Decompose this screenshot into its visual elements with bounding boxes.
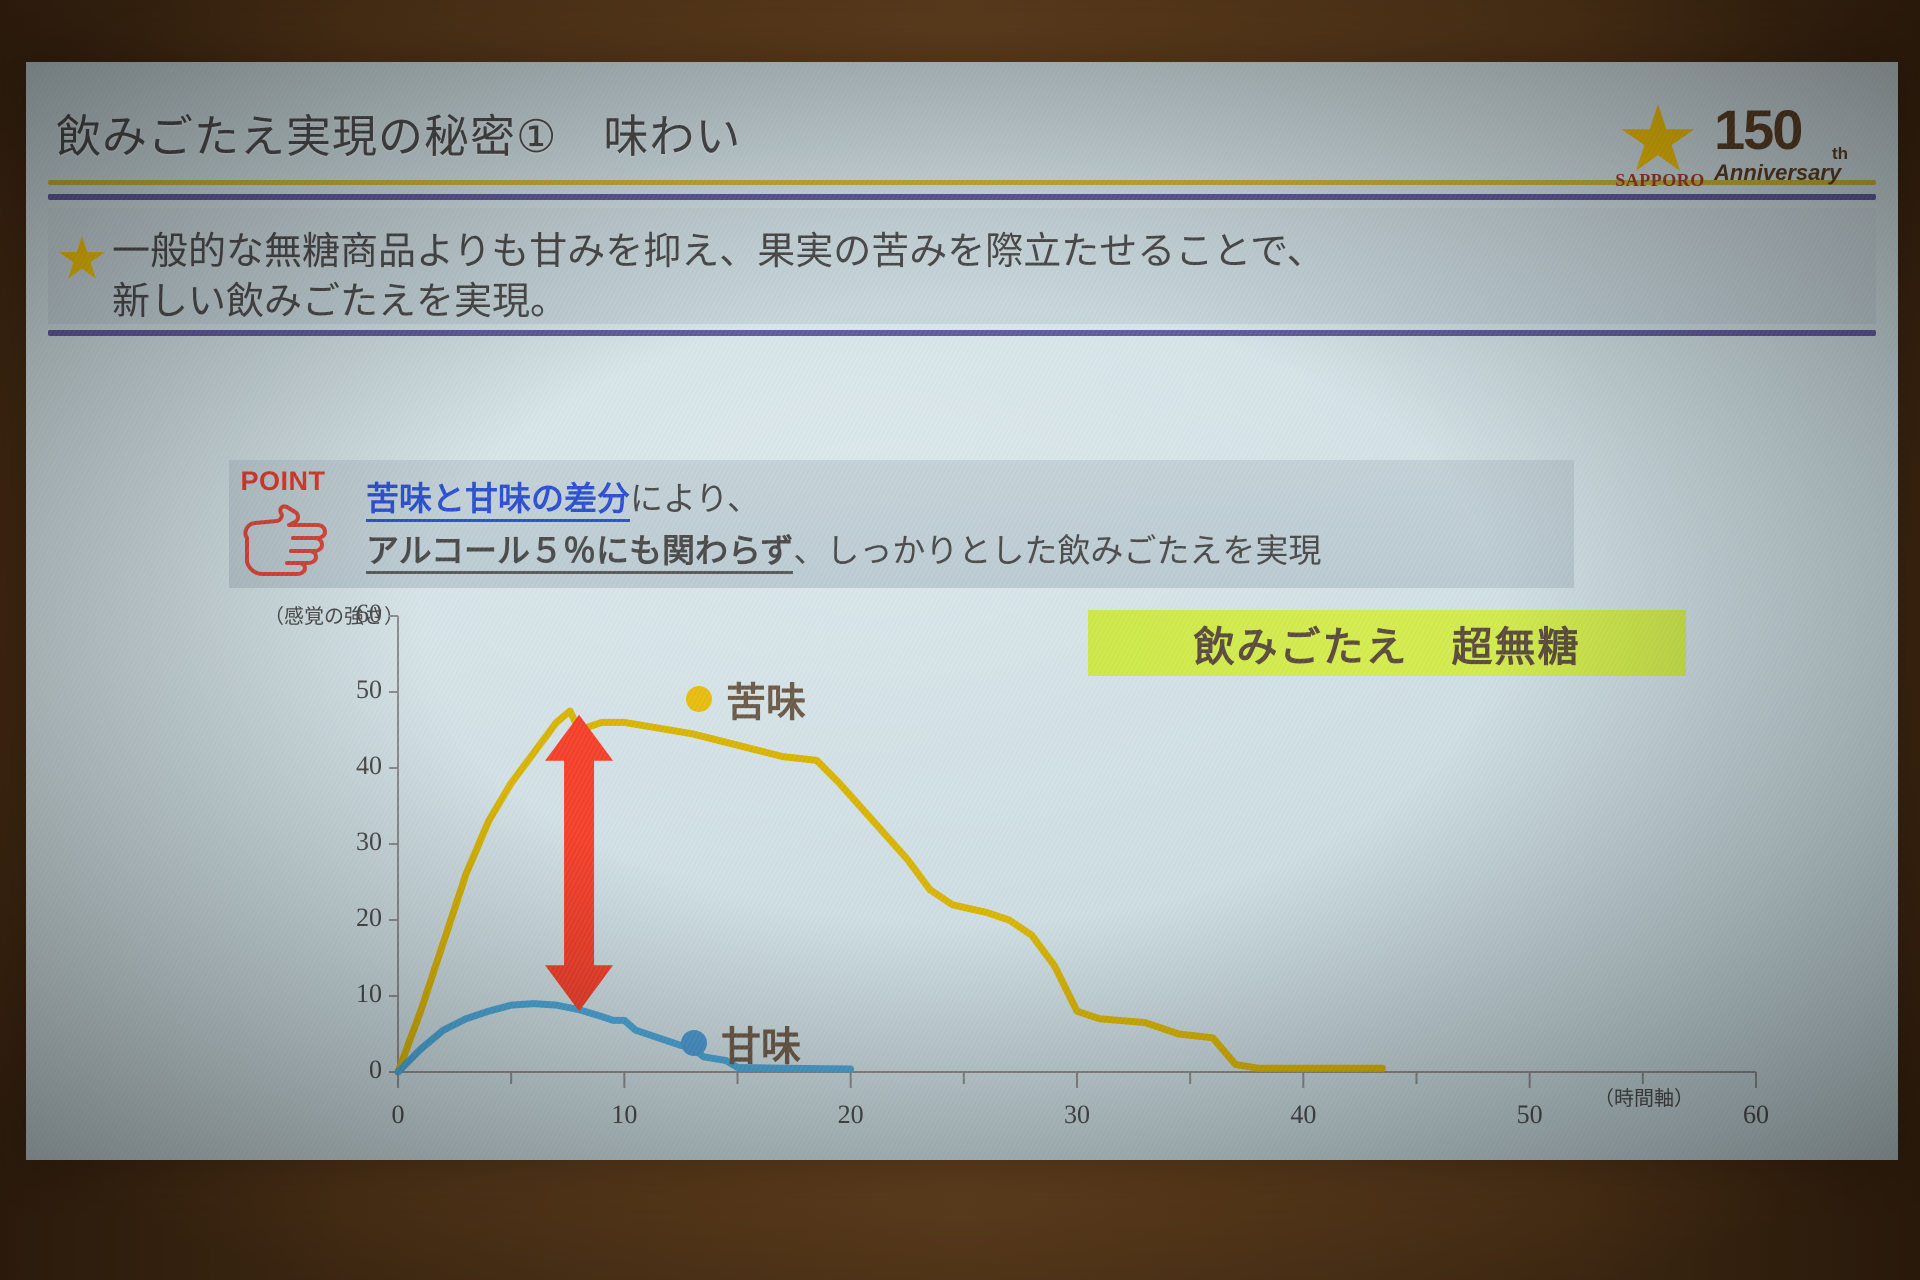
logo-number: 150	[1714, 102, 1801, 158]
page-title: 飲みごたえ実現の秘密① 味わい	[56, 100, 741, 165]
x-tick-label: 0	[368, 1100, 428, 1130]
logo-brand: SAPPORO	[1614, 170, 1706, 191]
legend-label-sweet: 甘味	[721, 1014, 801, 1072]
y-tick-label: 0	[338, 1055, 382, 1085]
pointing-hand-icon	[237, 496, 329, 578]
y-tick-label: 40	[338, 751, 382, 781]
divider-yellow	[48, 180, 1876, 185]
x-tick-label: 20	[821, 1100, 881, 1130]
point-line1-rest: により、	[630, 479, 760, 518]
divider-purple	[48, 194, 1876, 200]
divider-purple-2	[48, 330, 1876, 336]
x-tick-label: 40	[1273, 1100, 1333, 1130]
bullet-star-icon	[58, 236, 106, 282]
legend-dot-bitter	[686, 686, 712, 712]
taste-intensity-chart	[356, 602, 1776, 1160]
legend-dot-sweet	[681, 1030, 707, 1056]
x-tick-label: 10	[594, 1100, 654, 1130]
point-line1-emphasis: 苦味と甘味の差分	[366, 479, 630, 522]
headline-line-2: 新しい飲みごたえを実現。	[112, 270, 568, 325]
point-label: POINT	[231, 466, 335, 497]
y-tick-label: 10	[338, 979, 382, 1009]
point-line2-emphasis: アルコール５％にも関わらず	[366, 531, 793, 574]
y-tick-label: 20	[338, 903, 382, 933]
difference-arrow-annotation	[545, 715, 613, 1011]
presentation-slide: 飲みごたえ実現の秘密① 味わい SAPPORO 150 th Anniversa…	[26, 62, 1898, 1160]
legend-label-bitter: 苦味	[726, 670, 806, 728]
point-line-2: アルコール５％にも関わらず、しっかりとした飲みごたえを実現	[366, 524, 1321, 572]
star-icon	[1620, 104, 1696, 176]
y-tick-label: 30	[338, 827, 382, 857]
headline-band: 一般的な無糖商品よりも甘みを抑え、果実の苦みを際立たせることで、 新しい飲みごた…	[48, 208, 1876, 324]
point-line2-rest: 、しっかりとした飲みごたえを実現	[793, 531, 1321, 570]
projected-slide-photo: 飲みごたえ実現の秘密① 味わい SAPPORO 150 th Anniversa…	[0, 0, 1920, 1280]
y-tick-label: 60	[338, 599, 382, 629]
chart-svg	[356, 602, 1776, 1160]
x-axis-caption: （時間軸）	[1594, 1082, 1694, 1111]
x-tick-label: 60	[1726, 1100, 1786, 1130]
x-tick-label: 30	[1047, 1100, 1107, 1130]
y-tick-label: 50	[338, 675, 382, 705]
x-tick-label: 50	[1500, 1100, 1560, 1130]
legend-item-sweet: 甘味	[681, 1014, 801, 1072]
headline-line-1: 一般的な無糖商品よりも甘みを抑え、果実の苦みを際立たせることで、	[112, 220, 1325, 275]
point-icon-group: POINT	[231, 466, 335, 582]
sapporo-150th-logo: SAPPORO 150 th Anniversary	[1614, 100, 1860, 192]
legend-item-bitter: 苦味	[686, 670, 806, 728]
logo-anniversary: Anniversary	[1714, 160, 1841, 186]
point-line-1: 苦味と甘味の差分により、	[366, 472, 760, 520]
